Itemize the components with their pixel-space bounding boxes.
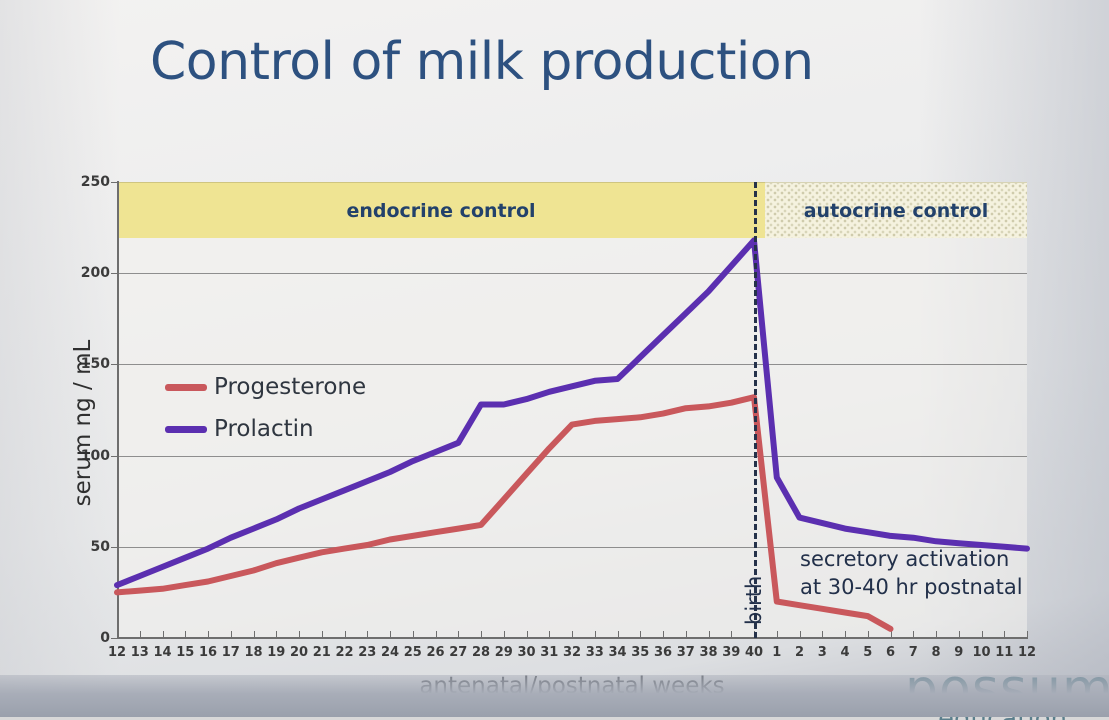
x-tick-label-9: 21	[313, 645, 331, 660]
x-tick-mark-8	[299, 631, 300, 638]
x-axis-tick-labels: 1213141516171819202122232425262728293031…	[117, 645, 1027, 669]
x-tick-label-1: 13	[131, 645, 149, 660]
x-tick-label-29: 1	[772, 645, 781, 660]
x-tick-label-12: 24	[381, 645, 399, 660]
y-tick-label-50: 50	[91, 539, 110, 555]
y-tick-label-200: 200	[81, 265, 110, 281]
y-tick-mark-200	[111, 273, 119, 274]
x-tick-label-15: 27	[449, 645, 467, 660]
x-tick-mark-14	[436, 631, 437, 638]
x-tick-label-23: 35	[631, 645, 649, 660]
x-tick-label-32: 4	[840, 645, 849, 660]
x-tick-label-28: 40	[745, 645, 763, 660]
legend-swatch-progesterone	[165, 384, 207, 391]
x-tick-label-7: 19	[267, 645, 285, 660]
x-tick-label-34: 6	[886, 645, 895, 660]
x-tick-mark-40	[1027, 631, 1028, 638]
legend-item-progesterone: Progesterone	[165, 374, 366, 400]
chart-legend: ProgesteroneProlactin	[165, 374, 366, 458]
x-tick-mark-3	[185, 631, 186, 638]
x-tick-mark-26	[709, 631, 710, 638]
x-tick-mark-39	[1004, 631, 1005, 638]
x-tick-mark-10	[345, 631, 346, 638]
x-tick-label-35: 7	[909, 645, 918, 660]
x-tick-label-37: 9	[954, 645, 963, 660]
x-tick-label-19: 31	[540, 645, 558, 660]
x-tick-mark-37	[959, 631, 960, 638]
secretory-activation-annotation: secretory activation at 30-40 hr postnat…	[800, 545, 1023, 602]
x-tick-label-38: 10	[972, 645, 990, 660]
x-tick-label-8: 20	[290, 645, 308, 660]
x-tick-label-25: 37	[677, 645, 695, 660]
x-tick-label-6: 18	[244, 645, 262, 660]
x-tick-label-3: 15	[176, 645, 194, 660]
y-tick-mark-50	[111, 547, 119, 548]
x-tick-mark-32	[845, 631, 846, 638]
x-tick-mark-23	[640, 631, 641, 638]
legend-label-prolactin: Prolactin	[214, 416, 314, 442]
x-tick-label-24: 36	[654, 645, 672, 660]
x-tick-label-30: 2	[795, 645, 804, 660]
x-tick-label-26: 38	[699, 645, 717, 660]
x-tick-label-22: 34	[608, 645, 626, 660]
gridline-150	[117, 364, 1027, 365]
x-tick-label-4: 16	[199, 645, 217, 660]
x-tick-mark-18	[527, 631, 528, 638]
gridline-200	[117, 273, 1027, 274]
x-tick-mark-13	[413, 631, 414, 638]
legend-item-prolactin: Prolactin	[165, 416, 366, 442]
x-tick-mark-15	[458, 631, 459, 638]
x-tick-label-5: 17	[222, 645, 240, 660]
x-tick-label-18: 30	[517, 645, 535, 660]
x-tick-mark-19	[549, 631, 550, 638]
x-tick-mark-27	[731, 631, 732, 638]
x-tick-mark-1	[140, 631, 141, 638]
x-tick-mark-33	[868, 631, 869, 638]
x-tick-label-0: 12	[108, 645, 126, 660]
x-tick-mark-31	[822, 631, 823, 638]
x-tick-mark-29	[777, 631, 778, 638]
y-tick-mark-0	[111, 638, 119, 639]
x-tick-mark-16	[481, 631, 482, 638]
x-tick-mark-17	[504, 631, 505, 638]
secretory-annotation-line2: at 30-40 hr postnatal	[800, 573, 1023, 601]
x-tick-mark-34	[891, 631, 892, 638]
y-axis-line	[117, 181, 119, 639]
slide-photograph: Control of milk production endocrine con…	[0, 0, 1109, 717]
x-tick-mark-35	[913, 631, 914, 638]
x-tick-label-40: 12	[1018, 645, 1036, 660]
x-tick-label-39: 11	[995, 645, 1013, 660]
x-tick-mark-38	[982, 631, 983, 638]
x-tick-mark-20	[572, 631, 573, 638]
region-band-endocrine: endocrine control	[117, 182, 765, 238]
y-axis-title: serum ng / mL	[70, 333, 96, 513]
secretory-annotation-line1: secretory activation	[800, 545, 1023, 573]
x-tick-label-36: 8	[931, 645, 940, 660]
x-tick-label-2: 14	[153, 645, 171, 660]
region-band-autocrine: autocrine control	[765, 182, 1027, 238]
x-tick-label-14: 26	[426, 645, 444, 660]
x-tick-mark-4	[208, 631, 209, 638]
x-tick-label-27: 39	[722, 645, 740, 660]
chart-figure: endocrine control autocrine control 0501…	[0, 0, 1109, 717]
y-tick-mark-250	[111, 182, 119, 183]
legend-label-progesterone: Progesterone	[214, 374, 366, 400]
x-tick-label-21: 33	[586, 645, 604, 660]
x-tick-mark-0	[117, 631, 118, 638]
legend-swatch-prolactin	[165, 426, 207, 433]
x-tick-mark-11	[367, 631, 368, 638]
x-tick-mark-7	[276, 631, 277, 638]
x-tick-label-31: 3	[818, 645, 827, 660]
x-tick-label-16: 28	[472, 645, 490, 660]
x-tick-label-11: 23	[358, 645, 376, 660]
x-tick-mark-5	[231, 631, 232, 638]
x-tick-mark-21	[595, 631, 596, 638]
region-label-endocrine: endocrine control	[346, 200, 535, 222]
screen-bottom-edge	[0, 675, 1109, 717]
y-tick-label-250: 250	[81, 174, 110, 190]
region-label-autocrine: autocrine control	[804, 200, 989, 222]
x-tick-label-33: 5	[863, 645, 872, 660]
x-tick-mark-9	[322, 631, 323, 638]
x-tick-label-13: 25	[404, 645, 422, 660]
y-tick-label-0: 0	[100, 630, 110, 646]
y-tick-mark-100	[111, 456, 119, 457]
y-tick-mark-150	[111, 364, 119, 365]
x-tick-mark-6	[254, 631, 255, 638]
x-tick-mark-24	[663, 631, 664, 638]
x-tick-mark-36	[936, 631, 937, 638]
x-tick-mark-12	[390, 631, 391, 638]
x-tick-label-20: 32	[563, 645, 581, 660]
x-tick-label-17: 29	[495, 645, 513, 660]
birth-marker-line	[754, 182, 757, 638]
x-tick-label-10: 22	[335, 645, 353, 660]
x-tick-mark-2	[163, 631, 164, 638]
x-tick-mark-22	[618, 631, 619, 638]
x-tick-mark-25	[686, 631, 687, 638]
x-tick-mark-30	[800, 631, 801, 638]
birth-marker-label: birth	[742, 576, 766, 625]
